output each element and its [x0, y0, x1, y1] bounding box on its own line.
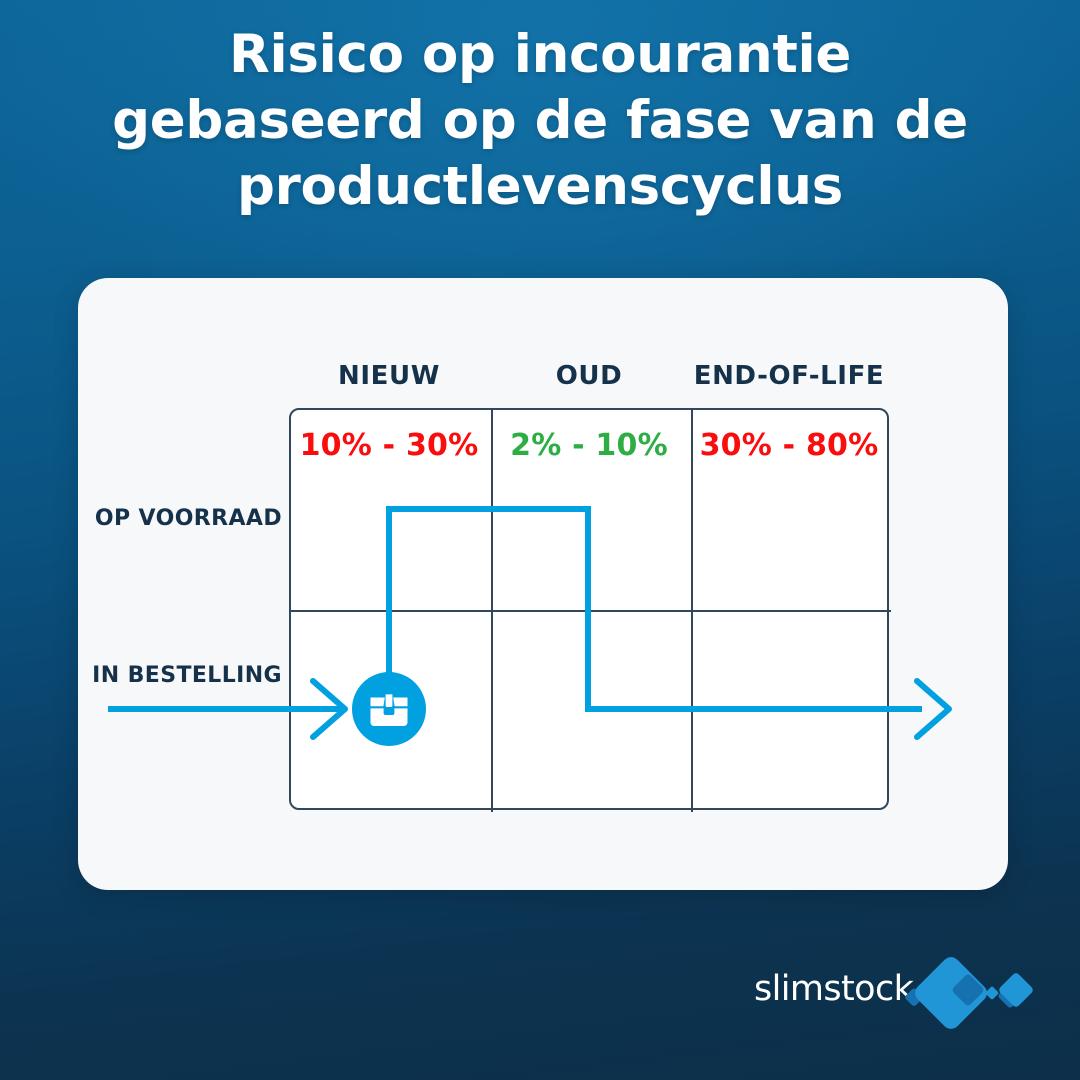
row-divider-1 — [291, 610, 891, 612]
package-box-icon — [352, 672, 426, 746]
logo-diamond-mark — [904, 952, 1034, 1034]
row-label-op-voorraad: OP VOORRAAD — [60, 506, 282, 532]
page-title: Risico op incourantie gebaseerd op de fa… — [0, 22, 1080, 220]
risk-value-end-of-life: 30% - 80% — [689, 426, 889, 466]
column-header-oud: OUD — [489, 359, 689, 393]
column-header-end-of-life: END-OF-LIFE — [689, 359, 889, 393]
title-line-2: gebaseerd op de fase van de — [0, 88, 1080, 154]
title-line-3: productlevenscyclus — [0, 154, 1080, 220]
title-line-1: Risico op incourantie — [0, 22, 1080, 88]
column-header-nieuw: NIEUW — [289, 359, 489, 393]
row-label-in-bestelling: IN BESTELLING — [60, 663, 282, 689]
risk-value-oud: 2% - 10% — [489, 426, 689, 466]
slimstock-logo: slimstock — [754, 952, 1034, 1034]
risk-matrix-table — [289, 408, 889, 810]
logo-wordmark: slimstock — [754, 969, 904, 1009]
poster-canvas: Risico op incourantie gebaseerd op de fa… — [0, 0, 1080, 1080]
risk-value-nieuw: 10% - 30% — [289, 426, 489, 466]
